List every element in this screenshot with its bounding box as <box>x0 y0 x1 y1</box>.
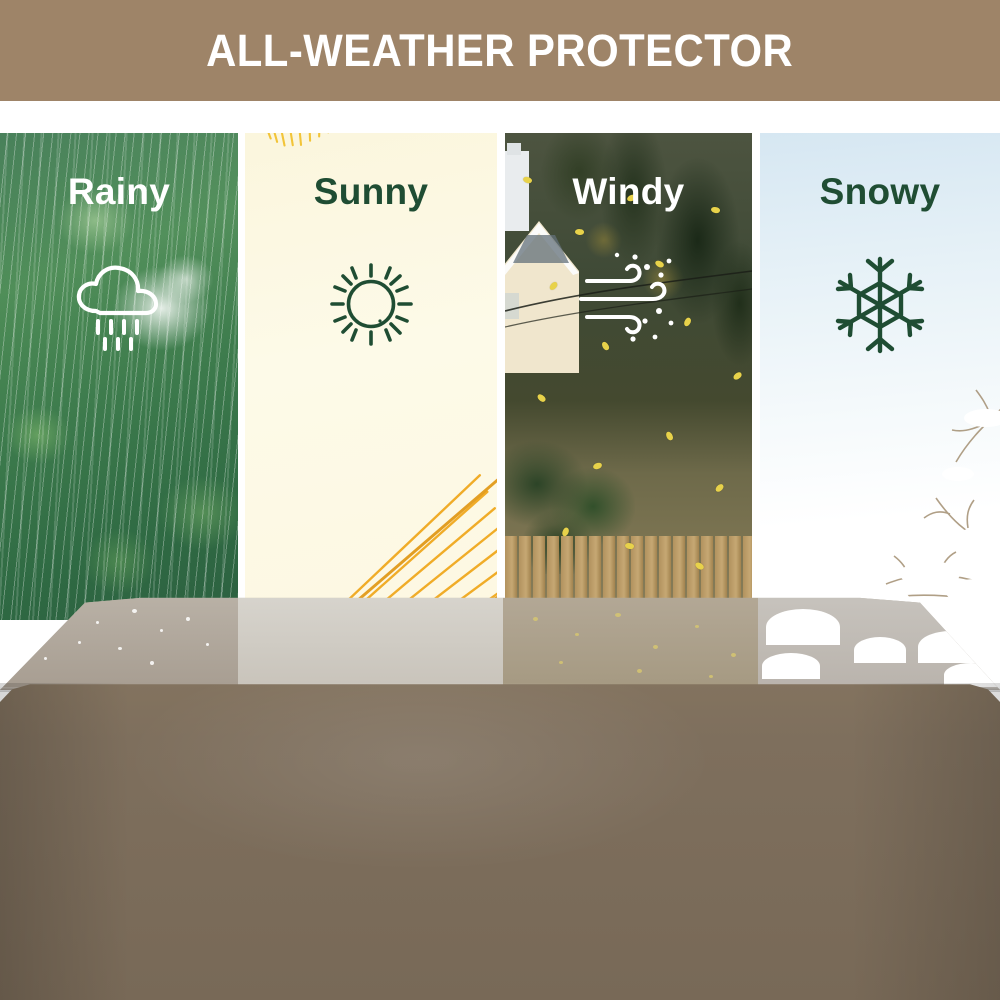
sun-icon <box>318 251 424 362</box>
cover-surface-snowy-snow-piles <box>758 595 1000 690</box>
weather-label-windy: Windy <box>505 171 752 213</box>
weather-label-sunny: Sunny <box>245 171 497 213</box>
cover-surface-rainy-water-beads <box>0 595 238 690</box>
weather-panel-sunny: Sunny <box>245 133 497 620</box>
rain-cloud-icon <box>64 251 174 356</box>
cover-top-surface <box>0 595 1000 690</box>
snowflake-icon <box>830 251 930 364</box>
weather-label-rainy: Rainy <box>0 171 238 213</box>
cover-left-shadow <box>0 683 130 1000</box>
weather-panel-snowy: Snowy <box>760 133 1000 620</box>
weather-panel-windy: Windy <box>505 133 752 620</box>
patio-furniture-cover <box>0 595 1000 1000</box>
weather-panel-strip: Rainy <box>0 133 1000 620</box>
cover-right-shadow <box>850 683 1000 1000</box>
banner-divider <box>0 101 1000 133</box>
cover-surface-sunny-dry <box>238 595 503 690</box>
wind-icon <box>573 251 685 352</box>
cover-surface-windy-leaves <box>503 595 758 690</box>
weather-panel-rainy: Rainy <box>0 133 238 620</box>
header-banner: ALL-WEATHER PROTECTOR <box>0 0 1000 101</box>
snowy-branches <box>790 378 1000 620</box>
product-feature-image: ALL-WEATHER PROTECTOR Rainy <box>0 0 1000 1000</box>
weather-label-snowy: Snowy <box>760 171 1000 213</box>
page-title: ALL-WEATHER PROTECTOR <box>206 25 793 77</box>
